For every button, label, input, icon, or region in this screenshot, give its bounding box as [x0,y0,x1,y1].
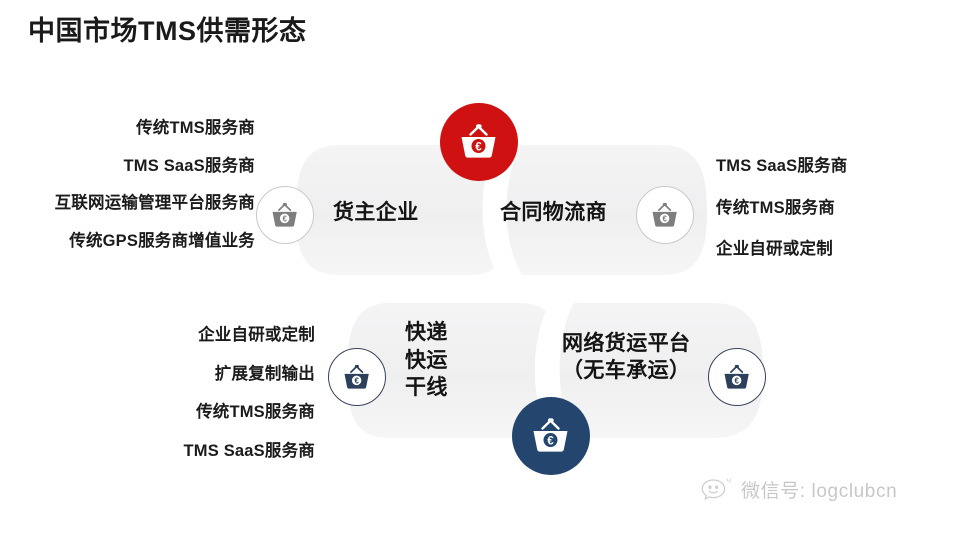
wechat-smiley-icon [700,477,734,503]
basket-icon-navy-right-node: € [708,348,766,406]
svg-text:€: € [282,214,287,223]
watermark: 微信号: logclubcn [700,476,897,503]
list-item: 互联网运输管理平台服务商 [55,195,255,212]
list-item: 传统GPS服务商增值业务 [69,233,255,250]
node-label-line: （无车承运） [562,357,690,384]
list-item: 扩展复制输出 [215,366,315,383]
supply-side-top-right-list: TMS SaaS服务商 传统TMS服务商 企业自研或定制 [716,158,847,283]
slide-canvas: 中国市场TMS供需形态 传统TMS服务商 TMS SaaS服务商 互联网运输管理… [0,0,960,536]
svg-text:€: € [475,141,482,153]
basket-icon: € [650,201,680,230]
list-item: 传统TMS服务商 [196,404,315,421]
basket-icon-gray-left-node: € [256,186,314,244]
basket-icon-navy-node: € [512,397,590,475]
basket-icon-red-node: € [440,103,518,181]
list-item: 企业自研或定制 [716,241,833,258]
list-item: TMS SaaS服务商 [184,443,315,460]
node-label-line: 网络货运平台 [562,330,690,357]
node-label-network-freight: 网络货运平台 （无车承运） [562,330,690,385]
basket-icon: € [458,122,500,162]
page-title: 中国市场TMS供需形态 [28,14,307,49]
basket-icon: € [270,201,300,230]
node-label-line: 快运 [405,347,448,375]
node-label-contract-logistics: 合同物流商 [500,196,607,226]
svg-text:€: € [662,214,667,223]
watermark-text: 微信号: logclubcn [741,476,897,503]
basket-icon-navy-left-node: € [328,348,386,406]
basket-icon-gray-right-node: € [636,186,694,244]
node-label-shipper: 货主企业 [333,196,419,226]
demand-side-bottom-left-list: 企业自研或定制 扩展复制输出 传统TMS服务商 TMS SaaS服务商 [184,327,315,481]
svg-text:€: € [354,376,359,385]
svg-text:€: € [734,376,739,385]
list-item: 传统TMS服务商 [136,120,255,137]
list-item: 企业自研或定制 [198,327,315,344]
demand-side-top-left-list: 传统TMS服务商 TMS SaaS服务商 互联网运输管理平台服务商 传统GPS服… [55,120,255,270]
list-item: TMS SaaS服务商 [716,158,847,175]
node-label-express: 快递 快运 干线 [405,319,448,402]
list-item: 传统TMS服务商 [716,200,835,217]
basket-icon: € [530,416,572,456]
node-label-line: 快递 [405,319,448,347]
node-label-line: 干线 [405,374,448,402]
svg-text:€: € [547,435,554,447]
list-item: TMS SaaS服务商 [124,158,255,175]
basket-icon: € [722,363,752,392]
basket-icon: € [342,363,372,392]
